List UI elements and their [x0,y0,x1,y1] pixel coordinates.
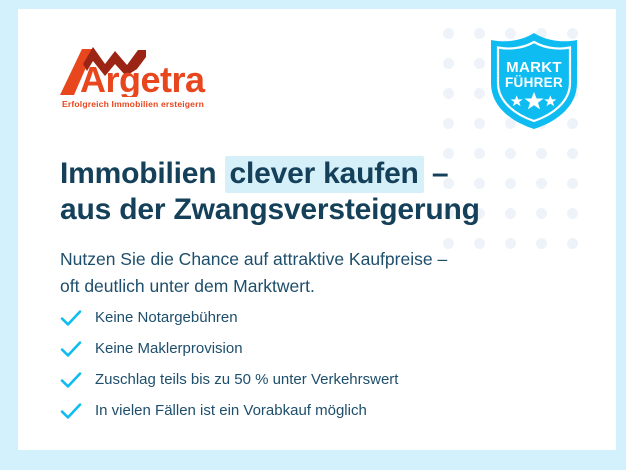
list-item: In vielen Fällen ist ein Vorabkauf mögli… [60,395,398,426]
svg-text:MARKT: MARKT [506,59,562,76]
benefit-label: In vielen Fällen ist ein Vorabkauf mögli… [95,402,367,419]
check-icon [60,309,82,327]
subheading: Nutzen Sie die Chance auf attraktive Kau… [60,246,560,300]
decorative-dot [443,58,454,69]
banner-panel: Argetra Erfolgreich Immobilien ersteiger… [18,9,616,450]
decorative-dot [567,238,578,249]
check-icon [60,371,82,389]
benefit-label: Keine Maklerprovision [95,340,243,357]
decorative-dot [567,178,578,189]
subheading-line-1: Nutzen Sie die Chance auf attraktive Kau… [60,249,447,269]
promo-banner: Argetra Erfolgreich Immobilien ersteiger… [0,0,626,470]
logo-tagline: Erfolgreich Immobilien ersteigern [62,99,204,109]
decorative-dot [474,58,485,69]
check-icon [60,340,82,358]
list-item: Zuschlag teils bis zu 50 % unter Verkehr… [60,364,398,395]
benefit-label: Keine Notargebühren [95,309,238,326]
decorative-dot [443,88,454,99]
decorative-dot [567,208,578,219]
page-title: Immobilien clever kaufen – aus der Zwang… [60,156,540,228]
list-item: Keine Notargebühren [60,302,398,333]
benefit-label: Zuschlag teils bis zu 50 % unter Verkehr… [95,371,398,388]
argetra-logo: Argetra Erfolgreich Immobilien ersteiger… [60,45,250,117]
svg-text:FÜHRER: FÜHRER [505,75,563,90]
list-item: Keine Maklerprovision [60,333,398,364]
headline-part-2: – [424,157,449,190]
decorative-dot [474,28,485,39]
subheading-line-2: oft deutlich unter dem Marktwert. [60,276,315,296]
headline-part-1: Immobilien [60,157,225,190]
decorative-dot [567,148,578,159]
benefits-list: Keine NotargebührenKeine Maklerprovision… [60,302,398,426]
decorative-dot [443,118,454,129]
decorative-dot [474,88,485,99]
svg-text:Argetra: Argetra [80,59,206,97]
headline-line-2: aus der Zwangsversteigerung [60,193,480,226]
argetra-logo-icon: Argetra [60,45,250,97]
check-icon [60,402,82,420]
markt-fuehrer-badge-icon: MARKT FÜHRER [488,31,580,131]
decorative-dot [443,28,454,39]
headline-highlight: clever kaufen [225,156,424,193]
decorative-dot [474,118,485,129]
